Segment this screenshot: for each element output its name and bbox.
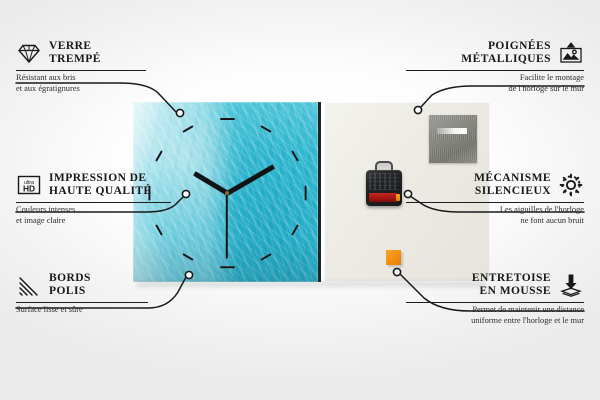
callout-entretoise-en-mousse: ENTRETOISE EN MOUSSE Permet de maintenir… bbox=[406, 272, 584, 326]
foam-spacer bbox=[386, 250, 401, 265]
callout-subtitle-line1: Permet de maintenir une distance bbox=[406, 305, 584, 315]
callout-subtitle-line1: Résistant aux bris bbox=[16, 73, 146, 83]
callout-title: POIGNÉES MÉTALLIQUES bbox=[461, 40, 551, 65]
mechanism-hanger-loop bbox=[375, 161, 393, 171]
callout-subtitle-line2: et image claire bbox=[16, 216, 171, 226]
callout-title: MÉCANISME SILENCIEUX bbox=[474, 172, 551, 197]
minute-hand bbox=[226, 164, 275, 195]
callout-subtitle-line1: Facilite le montage bbox=[406, 73, 584, 83]
callout-title: IMPRESSION DE HAUTE QUALITÉ bbox=[49, 172, 152, 197]
hour-hand bbox=[193, 171, 228, 195]
callout-title: ENTRETOISE EN MOUSSE bbox=[472, 272, 551, 297]
gear-icon bbox=[558, 172, 584, 198]
callout-mecanisme-silencieux: MÉCANISME SILENCIEUX Les aiguilles de l'… bbox=[406, 172, 584, 226]
callout-subtitle-line2: et aux égratignures bbox=[16, 84, 146, 94]
press-down-foam-icon bbox=[558, 272, 584, 298]
hour-marker bbox=[156, 150, 164, 161]
callout-subtitle-line2: uniforme entre l'horloge et le mur bbox=[406, 316, 584, 326]
callout-divider bbox=[16, 70, 146, 71]
metal-hanger-plate bbox=[429, 115, 477, 163]
hour-marker bbox=[182, 253, 193, 261]
metal-plate-highlight bbox=[437, 128, 467, 134]
polished-edge-icon bbox=[16, 272, 42, 298]
picture-hanger-icon bbox=[558, 40, 584, 66]
callout-subtitle-line1: Couleurs intenses bbox=[16, 205, 171, 215]
callout-bords-polis: BORDS POLIS Surface lisse et sûre bbox=[16, 272, 148, 316]
callout-subtitle-line2: de l'horloge sur le mur bbox=[406, 84, 584, 94]
callout-subtitle-line2: ne font aucun bruit bbox=[406, 216, 584, 226]
hour-marker bbox=[291, 150, 299, 161]
hour-marker bbox=[220, 118, 235, 120]
hour-marker bbox=[260, 125, 271, 133]
callout-header: VERRE TREMPÉ bbox=[16, 40, 146, 66]
callout-impression-haute-qualite: ultra HD IMPRESSION DE HAUTE QUALITÉ Cou… bbox=[16, 172, 171, 226]
callout-header: POIGNÉES MÉTALLIQUES bbox=[406, 40, 584, 66]
second-hand bbox=[226, 193, 228, 259]
hour-marker bbox=[260, 253, 271, 261]
callout-divider bbox=[406, 302, 584, 303]
callout-verre-trempe: VERRE TREMPÉ Résistant aux bris et aux é… bbox=[16, 40, 146, 94]
infographic-canvas: VERRE TREMPÉ Résistant aux bris et aux é… bbox=[0, 0, 600, 400]
svg-text:HD: HD bbox=[23, 184, 35, 194]
hour-marker bbox=[304, 185, 306, 200]
callout-divider bbox=[406, 202, 584, 203]
hour-marker bbox=[291, 224, 299, 235]
callout-subtitle-line1: Les aiguilles de l'horloge bbox=[406, 205, 584, 215]
callout-header: MÉCANISME SILENCIEUX bbox=[406, 172, 584, 198]
callout-divider bbox=[16, 302, 148, 303]
clock-center-cap bbox=[225, 191, 229, 195]
quartz-mechanism bbox=[366, 170, 402, 206]
battery bbox=[369, 193, 397, 202]
callout-divider bbox=[16, 202, 171, 203]
diamond-icon bbox=[16, 40, 42, 66]
hour-marker bbox=[156, 224, 164, 235]
mechanism-housing-detail bbox=[369, 173, 399, 190]
ultra-hd-icon: ultra HD bbox=[16, 172, 42, 198]
callout-divider bbox=[406, 70, 584, 71]
callout-title: VERRE TREMPÉ bbox=[49, 40, 101, 65]
callout-poignees-metalliques: POIGNÉES MÉTALLIQUES Facilite le montage… bbox=[406, 40, 584, 94]
hour-marker bbox=[220, 266, 235, 268]
callout-title: BORDS POLIS bbox=[49, 272, 91, 297]
hour-marker bbox=[182, 125, 193, 133]
callout-header: ultra HD IMPRESSION DE HAUTE QUALITÉ bbox=[16, 172, 171, 198]
callout-header: ENTRETOISE EN MOUSSE bbox=[406, 272, 584, 298]
callout-header: BORDS POLIS bbox=[16, 272, 148, 298]
callout-subtitle-line1: Surface lisse et sûre bbox=[16, 305, 148, 315]
